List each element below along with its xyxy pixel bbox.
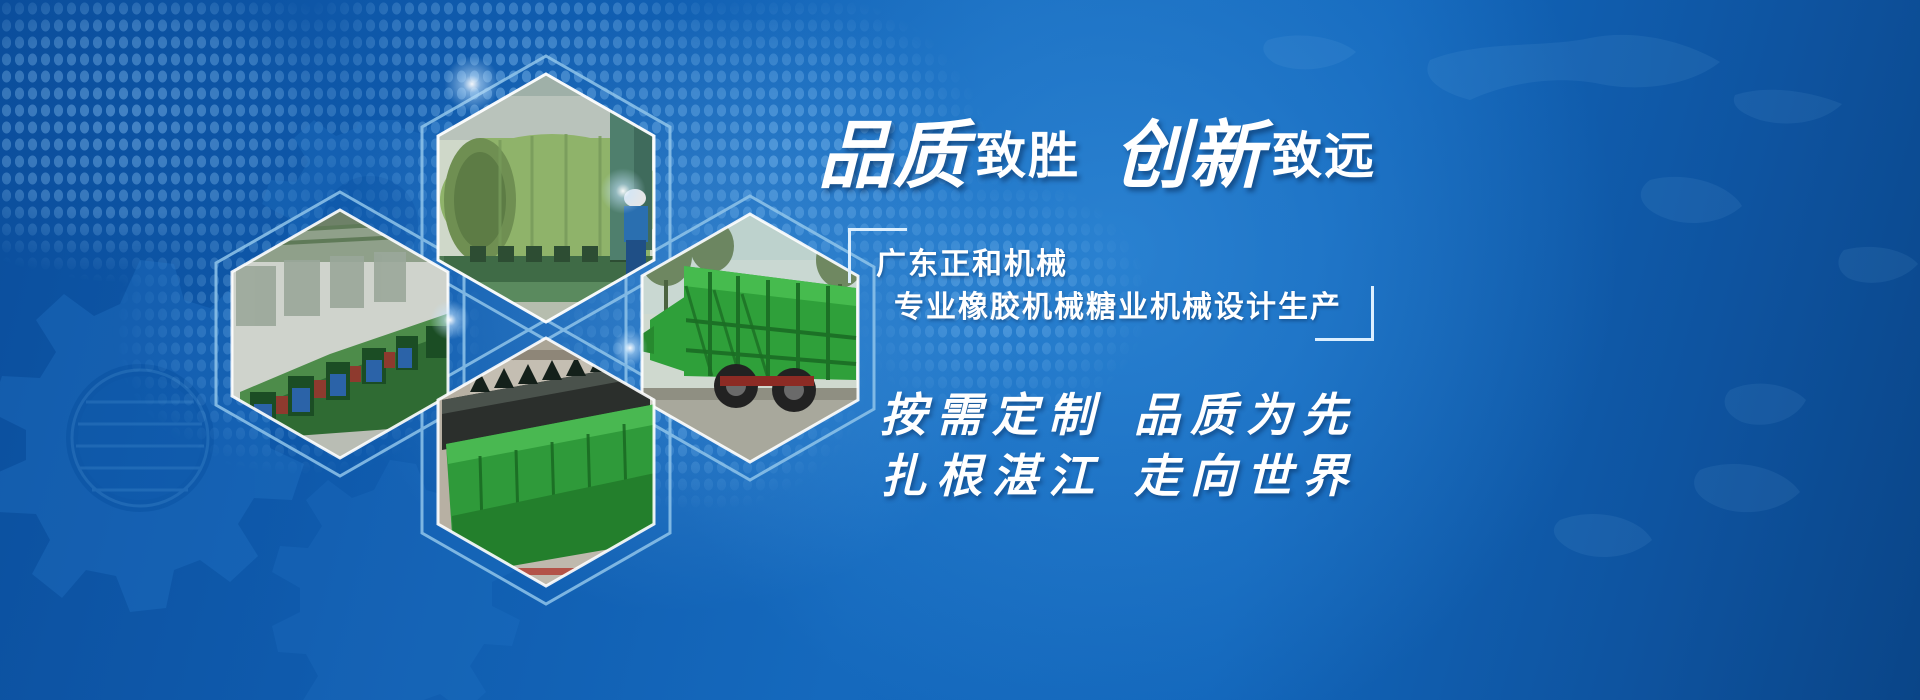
slogan-1-right: 品质为先 (1134, 388, 1358, 442)
banner-text-block: 品质致胜创新致远 广东正和机械 专业橡胶机械糖业机械设计生产 按需定制品质为先 … (818, 96, 1798, 616)
headline-part2-emphasis: 创新 (1114, 113, 1264, 199)
slogan-2-right: 走向世界 (1134, 449, 1358, 503)
corner-bracket-top-left (848, 228, 907, 283)
headline-part2-suffix: 致远 (1272, 126, 1376, 185)
company-promo-banner: 品质致胜创新致远 广东正和机械 专业橡胶机械糖业机械设计生产 按需定制品质为先 … (0, 0, 1920, 700)
company-name: 广东正和机械 (876, 244, 1346, 287)
corner-bracket-bottom-right (1315, 286, 1374, 341)
slogan-list: 按需定制品质为先 扎根湛江走向世界 (880, 385, 1798, 506)
headline: 品质致胜创新致远 (818, 96, 1798, 192)
company-business: 专业橡胶机械糖业机械设计生产 (894, 287, 1346, 330)
headline-part1-emphasis: 品质 (818, 113, 968, 199)
company-info-block: 广东正和机械 专业橡胶机械糖业机械设计生产 (848, 228, 1364, 341)
slogan-row-1: 按需定制品质为先 (880, 385, 1798, 446)
slogan-1-left: 按需定制 (880, 388, 1104, 442)
slogan-row-2: 扎根湛江走向世界 (880, 446, 1798, 507)
hexagon-photo-collage (180, 20, 880, 660)
slogan-2-left: 扎根湛江 (880, 449, 1104, 503)
headline-part1-suffix: 致胜 (976, 126, 1080, 185)
